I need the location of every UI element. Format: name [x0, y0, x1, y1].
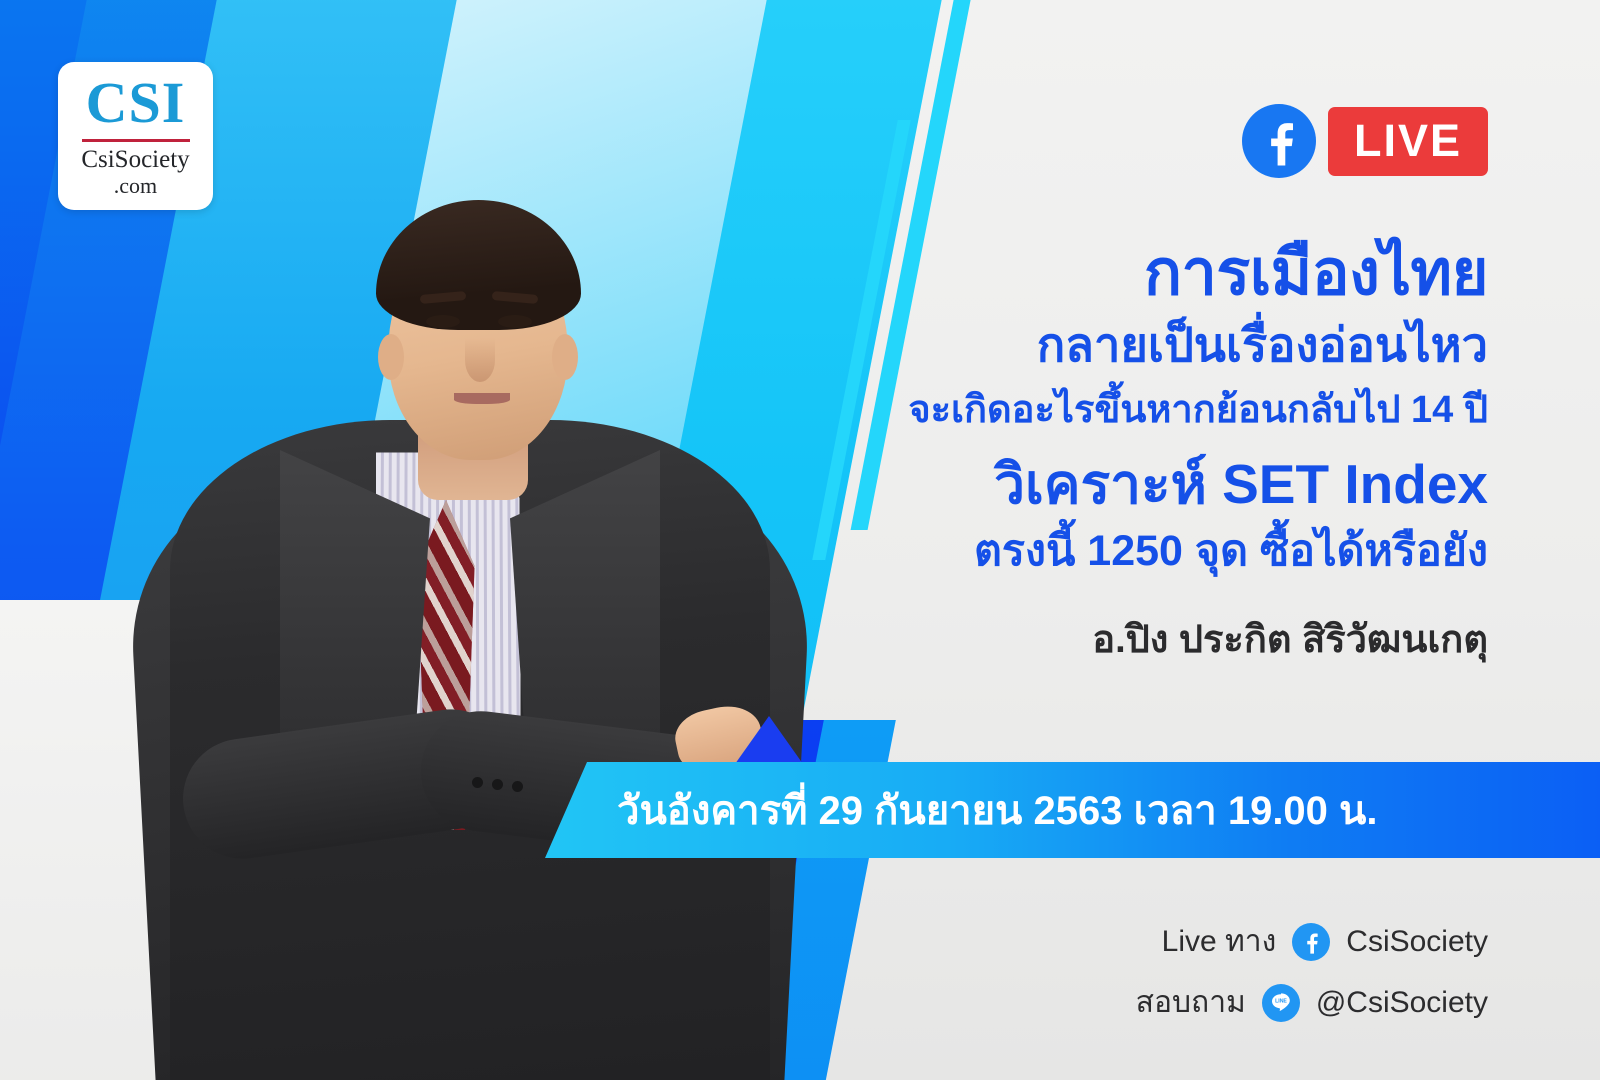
date-banner: วันอังคารที่ 29 กันยายน 2563 เวลา 19.00 …	[545, 762, 1600, 858]
headline-line-5: ตรงนี้ 1250 จุด ซื้อได้หรือยัง	[788, 526, 1488, 578]
facebook-icon	[1242, 104, 1316, 178]
logo-csi-text: CSI	[86, 74, 186, 132]
logo-site-name: CsiSociety	[81, 147, 189, 173]
headline-block: การเมืองไทย กลายเป็นเรื่องอ่อนไหว จะเกิด…	[788, 238, 1488, 669]
banner-triangle-accent	[735, 716, 803, 764]
ask-label: สอบถาม	[1136, 979, 1246, 1026]
facebook-handle: CsiSociety	[1346, 925, 1488, 959]
portrait-hair	[376, 200, 581, 330]
portrait-eye-right	[498, 315, 532, 328]
facebook-icon	[1292, 923, 1330, 961]
speaker-portrait	[120, 20, 820, 1080]
live-label: LIVE	[1328, 107, 1488, 176]
svg-text:LINE: LINE	[1275, 998, 1287, 1004]
line-chat-icon: LINE	[1262, 984, 1300, 1022]
headline-line-3: จะเกิดอะไรขึ้นหากย้อนกลับไป 14 ปี	[788, 388, 1488, 434]
logo-divider	[82, 139, 190, 142]
contact-footer: Live ทาง CsiSociety สอบถาม LINE @CsiSoci…	[1136, 918, 1488, 1026]
live-via-label: Live ทาง	[1162, 918, 1277, 965]
line-contact-row[interactable]: สอบถาม LINE @CsiSociety	[1136, 979, 1488, 1026]
headline-line-1: การเมืองไทย	[788, 238, 1488, 309]
headline-line-4: วิเคราะห์ SET Index	[788, 452, 1488, 517]
portrait-cuff-button	[512, 781, 523, 792]
portrait-cuff-button	[472, 777, 483, 788]
portrait-ear-left	[378, 334, 404, 380]
speaker-name: อ.ปิง ประกิต สิริวัฒนเกตุ	[788, 608, 1488, 669]
promo-poster: CSI CsiSociety .com LIVE การเมืองไทย กลา…	[0, 0, 1600, 1080]
date-text: วันอังคารที่ 29 กันยายน 2563 เวลา 19.00 …	[617, 778, 1378, 842]
logo-tld: .com	[114, 173, 157, 198]
portrait-cuff-button	[492, 779, 503, 790]
portrait-mouth	[454, 393, 510, 404]
portrait-nose	[465, 338, 495, 382]
facebook-live-badge[interactable]: LIVE	[1242, 104, 1488, 178]
portrait-ear-right	[552, 334, 578, 380]
headline-line-2: กลายเป็นเรื่องอ่อนไหว	[788, 317, 1488, 372]
portrait-eye-left	[426, 315, 460, 328]
csi-logo[interactable]: CSI CsiSociety .com	[58, 62, 213, 210]
facebook-contact-row[interactable]: Live ทาง CsiSociety	[1162, 918, 1488, 965]
line-handle: @CsiSociety	[1316, 986, 1488, 1020]
